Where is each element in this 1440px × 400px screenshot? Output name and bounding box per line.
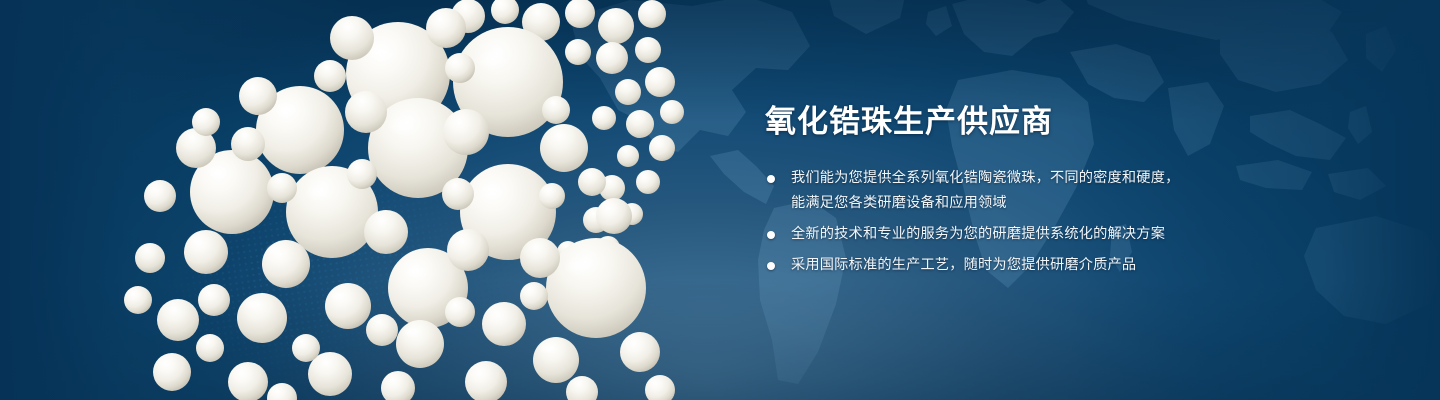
feature-bullet-item: 采用国际标准的生产工艺，随时为您提供研磨介质产品 <box>765 253 1365 278</box>
bullet-dot-icon <box>767 175 775 183</box>
feature-bullet-item: 全新的技术和专业的服务为您的研磨提供系统化的解决方案 <box>765 222 1365 247</box>
banner-title: 氧化锆珠生产供应商 <box>765 104 1365 140</box>
bullet-line: 我们能为您提供全系列氧化锆陶瓷微珠，不同的密度和硬度， <box>791 166 1365 191</box>
bullet-dot-icon <box>767 262 775 270</box>
feature-bullet-list: 我们能为您提供全系列氧化锆陶瓷微珠，不同的密度和硬度， 能满足您各类研磨设备和应… <box>765 166 1365 278</box>
bullet-line: 采用国际标准的生产工艺，随时为您提供研磨介质产品 <box>791 253 1365 278</box>
bullet-dot-icon <box>767 231 775 239</box>
bullet-line: 能满足您各类研磨设备和应用领域 <box>791 191 1365 216</box>
feature-bullet-item: 我们能为您提供全系列氧化锆陶瓷微珠，不同的密度和硬度， 能满足您各类研磨设备和应… <box>765 166 1365 216</box>
bullet-line: 全新的技术和专业的服务为您的研磨提供系统化的解决方案 <box>791 222 1365 247</box>
banner-copy: 氧化锆珠生产供应商 我们能为您提供全系列氧化锆陶瓷微珠，不同的密度和硬度， 能满… <box>765 104 1365 278</box>
zirconia-beads-image <box>0 0 760 400</box>
promo-banner: 氧化锆珠生产供应商 我们能为您提供全系列氧化锆陶瓷微珠，不同的密度和硬度， 能满… <box>0 0 1440 400</box>
